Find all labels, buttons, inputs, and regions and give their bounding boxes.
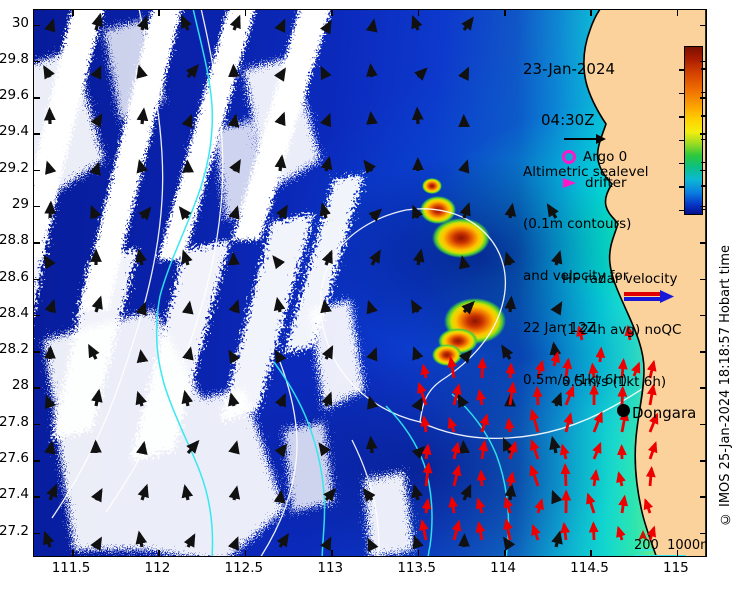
title-time: 04:30Z: [523, 112, 649, 129]
x-tick-mark: [72, 550, 74, 556]
x-tick-mark: [504, 10, 506, 16]
y-tick-label: 28: [12, 377, 29, 393]
y-tick-label: 28.6: [0, 269, 29, 285]
y-tick-mark: [34, 533, 40, 535]
legend-drifter: drifter: [562, 175, 627, 191]
y-tick-mark: [34, 387, 40, 389]
drifter-arrow-icon: [562, 177, 578, 189]
x-tick-label: 115: [663, 560, 689, 576]
y-tick-mark: [700, 206, 706, 208]
x-tick-mark: [590, 10, 592, 16]
argo-circle-icon: [562, 150, 576, 164]
scale-bar-label: 200 1000m: [634, 538, 706, 553]
x-tick-label: 114.5: [570, 560, 609, 576]
y-tick-mark: [34, 242, 40, 244]
x-tick-mark: [245, 550, 247, 556]
colorbar-tick-labels: 4210.50.250.10.05: [701, 46, 706, 213]
y-tick-mark: [700, 351, 706, 353]
y-tick-label: 28.4: [0, 305, 29, 321]
y-tick-label: 27.2: [0, 523, 29, 539]
y-tick-label: 27.6: [0, 450, 29, 466]
x-tick-mark: [590, 550, 592, 556]
y-tick-mark: [34, 61, 40, 63]
y-tick-mark: [700, 315, 706, 317]
y-tick-mark: [34, 351, 40, 353]
x-tick-mark: [158, 10, 160, 16]
x-tick-label: 113.5: [397, 560, 436, 576]
hf-radar-reference-arrow-icon: [622, 289, 676, 305]
map-canvas: Dongara 23-Jan-2024 04:30Z Altimetric se…: [34, 10, 706, 556]
x-tick-mark: [504, 550, 506, 556]
title-date: 23-Jan-2024: [523, 61, 649, 78]
figure-root: 27.227.427.627.82828.228.428.628.82929.2…: [0, 0, 740, 592]
y-tick-label: 30: [12, 15, 29, 31]
x-tick-label: 113: [317, 560, 343, 576]
y-tick-label: 29.4: [0, 123, 29, 139]
y-tick-label: 28.2: [0, 341, 29, 357]
hf-line2: (1 24h avg) noQC: [562, 322, 681, 339]
colorbar-tick-left: [679, 210, 684, 212]
y-tick-label: 29.8: [0, 51, 29, 67]
y-tick-mark: [34, 460, 40, 462]
x-tick-mark: [418, 10, 420, 16]
x-axis: 111.5112112.5113113.5114114.5115: [33, 560, 707, 588]
y-tick-label: 29.6: [0, 87, 29, 103]
x-tick-mark: [331, 550, 333, 556]
x-tick-mark: [677, 10, 679, 16]
y-tick-mark: [34, 279, 40, 281]
scale-bar: 200 1000m: [634, 538, 706, 556]
colorbar-tick-left: [679, 116, 684, 118]
y-axis: 27.227.427.627.82828.228.428.628.82929.2…: [0, 9, 29, 557]
colorbar-left-ticks: [679, 46, 684, 213]
x-tick-mark: [418, 550, 420, 556]
y-tick-mark: [34, 496, 40, 498]
map-plot-area[interactable]: Dongara 23-Jan-2024 04:30Z Altimetric se…: [33, 9, 707, 557]
y-tick-mark: [34, 97, 40, 99]
y-tick-label: 29.2: [0, 160, 29, 176]
title-line2: (0.1m contours): [523, 216, 649, 233]
x-tick-mark: [331, 10, 333, 16]
reference-velocity-arrow-icon: [562, 132, 608, 146]
x-tick-mark: [245, 10, 247, 16]
y-tick-mark: [700, 279, 706, 281]
drifter-label: drifter: [585, 175, 627, 191]
y-tick-label: 27.4: [0, 486, 29, 502]
y-tick-mark: [700, 242, 706, 244]
y-tick-mark: [700, 533, 706, 535]
colorbar-tick-left: [679, 186, 684, 188]
y-tick-mark: [700, 170, 706, 172]
x-tick-mark: [677, 550, 679, 556]
x-tick-label: 112: [145, 560, 171, 576]
x-tick-label: 114: [490, 560, 516, 576]
colorbar-tick-left: [679, 163, 684, 165]
y-tick-mark: [700, 424, 706, 426]
x-tick-mark: [72, 10, 74, 16]
x-tick-label: 112.5: [225, 560, 264, 576]
y-tick-mark: [700, 460, 706, 462]
x-tick-mark: [158, 550, 160, 556]
y-tick-mark: [34, 133, 40, 135]
y-tick-mark: [34, 25, 40, 27]
credit-text: © IMOS 25-Jan-2024 18:18:57 Hobart time: [718, 245, 733, 526]
colorbar-tick-left: [679, 140, 684, 142]
colorbar-tick-left: [679, 69, 684, 71]
y-tick-mark: [700, 496, 706, 498]
x-tick-label: 111.5: [52, 560, 91, 576]
y-tick-label: 28.8: [0, 232, 29, 248]
y-tick-mark: [700, 387, 706, 389]
y-tick-mark: [700, 97, 706, 99]
hf-line3: 0.5m/s (1kt 6h): [562, 374, 681, 391]
y-tick-label: 29: [12, 196, 29, 212]
argo-label: Argo 0: [583, 149, 627, 165]
hf-line1: HF radar velocity: [562, 271, 681, 288]
legend-argo: Argo 0: [562, 149, 627, 165]
y-tick-mark: [34, 170, 40, 172]
hf-radar-legend-block: HF radar velocity (1 24h avg) noQC 0.5m/…: [562, 236, 681, 426]
y-tick-label: 27.8: [0, 414, 29, 430]
y-tick-mark: [700, 61, 706, 63]
y-tick-mark: [34, 315, 40, 317]
y-tick-mark: [700, 25, 706, 27]
y-tick-mark: [34, 206, 40, 208]
colorbar-tick-left: [679, 93, 684, 95]
y-tick-mark: [700, 133, 706, 135]
y-tick-mark: [34, 424, 40, 426]
